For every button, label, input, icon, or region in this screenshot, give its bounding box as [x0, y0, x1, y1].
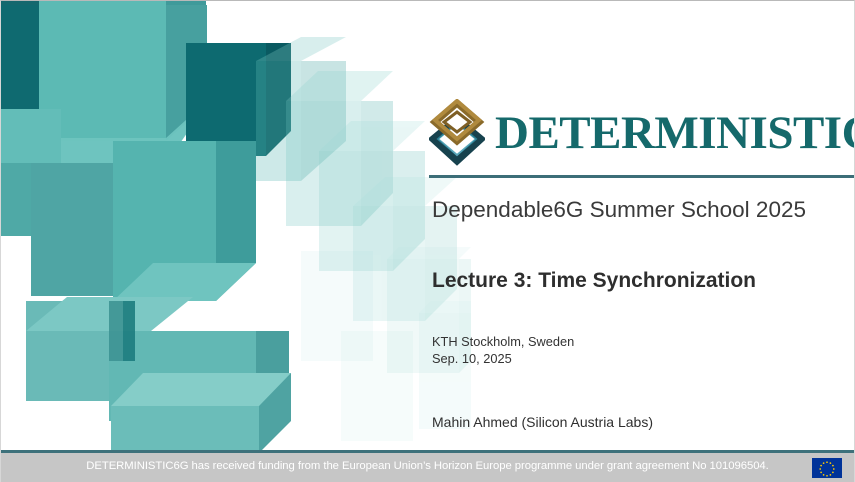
- title-block: Dependable6G Summer School 2025 Lecture …: [432, 196, 852, 430]
- event-location: KTH Stockholm, Sweden: [432, 334, 852, 351]
- lecture-title: Lecture 3: Time Synchronization: [432, 268, 852, 293]
- european-union-flag-icon: [812, 458, 842, 478]
- funding-statement: DETERMINISTIC6G has received funding fro…: [1, 460, 854, 472]
- logo-divider-rule: [429, 175, 855, 178]
- wordmark-main: DETERMINISTIC: [495, 107, 855, 159]
- brand-wordmark: DETERMINISTIC6G: [495, 110, 855, 157]
- event-date: Sep. 10, 2025: [432, 351, 852, 368]
- isometric-cube-cascade: [1, 1, 471, 453]
- title-slide: DETERMINISTIC6G Dependable6G Summer Scho…: [0, 0, 855, 482]
- deterministic6g-diamond-icon: [429, 99, 485, 167]
- author-name: Mahin Ahmed (Silicon Austria Labs): [432, 414, 852, 430]
- brand-logo: DETERMINISTIC6G: [429, 97, 849, 169]
- event-meta: KTH Stockholm, Sweden Sep. 10, 2025: [432, 334, 852, 368]
- event-title: Dependable6G Summer School 2025: [432, 196, 852, 223]
- funding-footer: DETERMINISTIC6G has received funding fro…: [1, 453, 854, 482]
